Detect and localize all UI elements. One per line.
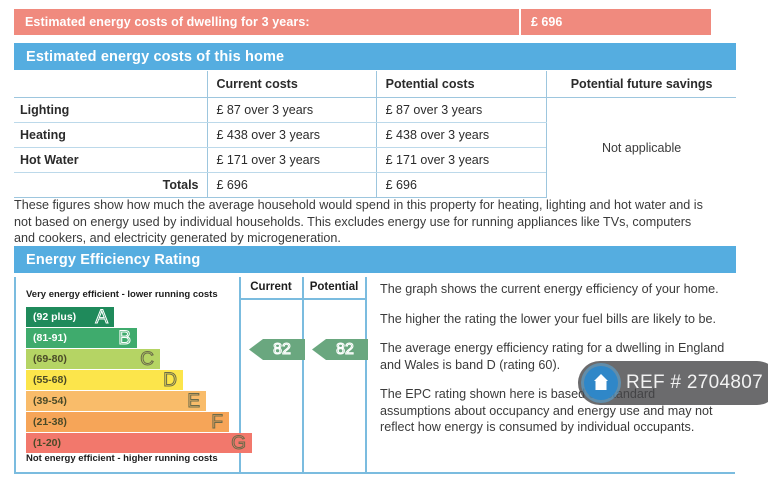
eer-band-list: (92 plus)A(81-91)B(69-80)C(55-68)D(39-54… bbox=[26, 307, 252, 454]
eer-band-letter-c: C bbox=[140, 350, 154, 369]
house-logo-icon bbox=[584, 366, 618, 400]
column-header-potential-costs: Potential costs bbox=[376, 71, 547, 98]
estimated-energy-costs-value: £ 696 bbox=[521, 15, 711, 29]
table-header-row: Current costs Potential costs Potential … bbox=[14, 71, 736, 98]
cell-heating-current: £ 438 over 3 years bbox=[207, 123, 376, 148]
column-header-potential-future-savings: Potential future savings bbox=[547, 71, 736, 98]
eer-band-e: (39-54)E bbox=[26, 391, 206, 411]
eer-section-header: Energy Efficiency Rating bbox=[14, 246, 736, 273]
eer-band-letter-a: A bbox=[95, 308, 108, 327]
reference-watermark: REF # 2704807 bbox=[578, 361, 768, 405]
cell-totals-current: £ 696 bbox=[207, 173, 376, 198]
eer-band-range-f: (21-38) bbox=[33, 416, 67, 428]
epc-page: Estimated energy costs of dwelling for 3… bbox=[0, 0, 768, 499]
eer-paragraph-2: The higher the rating the lower your fue… bbox=[380, 311, 728, 328]
estimated-energy-costs-banner: Estimated energy costs of dwelling for 3… bbox=[14, 9, 711, 35]
potential-rating-value: 82 bbox=[326, 342, 354, 358]
cell-heating-potential: £ 438 over 3 years bbox=[376, 123, 547, 148]
eer-band-range-c: (69-80) bbox=[33, 353, 67, 365]
cell-lighting-current: £ 87 over 3 years bbox=[207, 98, 376, 123]
eer-band-a: (92 plus)A bbox=[26, 307, 114, 327]
eer-band-letter-b: B bbox=[118, 329, 131, 348]
eer-band-range-a: (92 plus) bbox=[33, 311, 76, 323]
eer-explanation-text: The graph shows the current energy effic… bbox=[380, 281, 728, 436]
table-row: Lighting £ 87 over 3 years £ 87 over 3 y… bbox=[14, 98, 736, 123]
eer-column-divider-right bbox=[365, 277, 367, 474]
eer-band-range-b: (81-91) bbox=[33, 332, 67, 344]
current-rating-value: 82 bbox=[263, 342, 291, 358]
energy-costs-note: These figures show how much the average … bbox=[14, 197, 714, 247]
cell-lighting-potential: £ 87 over 3 years bbox=[376, 98, 547, 123]
eer-column-header-potential: Potential bbox=[303, 281, 365, 293]
row-label-hot-water: Hot Water bbox=[14, 148, 207, 173]
row-label-totals: Totals bbox=[14, 173, 207, 198]
eer-paragraph-1: The graph shows the current energy effic… bbox=[380, 281, 728, 298]
eer-band-d: (55-68)D bbox=[26, 370, 183, 390]
estimated-energy-costs-label: Estimated energy costs of dwelling for 3… bbox=[14, 15, 519, 29]
energy-costs-table: Current costs Potential costs Potential … bbox=[14, 71, 736, 198]
column-header-blank bbox=[14, 71, 207, 98]
eer-band-letter-g: G bbox=[231, 434, 246, 453]
eer-header-underline-current bbox=[241, 298, 302, 300]
cell-potential-future-savings: Not applicable bbox=[547, 98, 736, 198]
costs-section-title: Estimated energy costs of this home bbox=[14, 49, 284, 65]
cell-hot-water-potential: £ 171 over 3 years bbox=[376, 148, 547, 173]
reference-number-text: REF # 2704807 bbox=[626, 372, 763, 394]
eer-band-b: (81-91)B bbox=[26, 328, 137, 348]
eer-band-c: (69-80)C bbox=[26, 349, 160, 369]
eer-band-letter-d: D bbox=[163, 371, 177, 390]
row-label-heating: Heating bbox=[14, 123, 207, 148]
eer-band-f: (21-38)F bbox=[26, 412, 229, 432]
eer-band-letter-f: F bbox=[211, 413, 223, 432]
eer-header-underline-potential bbox=[304, 298, 365, 300]
eer-caption-bottom: Not energy efficient - higher running co… bbox=[26, 453, 218, 464]
eer-band-range-g: (1-20) bbox=[33, 437, 61, 449]
column-header-current-costs: Current costs bbox=[207, 71, 376, 98]
eer-band-letter-e: E bbox=[187, 392, 200, 411]
row-label-lighting: Lighting bbox=[14, 98, 207, 123]
eer-band-g: (1-20)G bbox=[26, 433, 252, 453]
eer-band-range-d: (55-68) bbox=[33, 374, 67, 386]
eer-section-title: Energy Efficiency Rating bbox=[14, 252, 200, 268]
cell-hot-water-current: £ 171 over 3 years bbox=[207, 148, 376, 173]
eer-band-range-e: (39-54) bbox=[33, 395, 67, 407]
costs-section-header: Estimated energy costs of this home bbox=[14, 43, 736, 70]
eer-column-divider-middle bbox=[302, 277, 304, 474]
eer-column-header-current: Current bbox=[240, 281, 302, 293]
cell-totals-potential: £ 696 bbox=[376, 173, 547, 198]
eer-caption-top: Very energy efficient - lower running co… bbox=[26, 289, 218, 300]
